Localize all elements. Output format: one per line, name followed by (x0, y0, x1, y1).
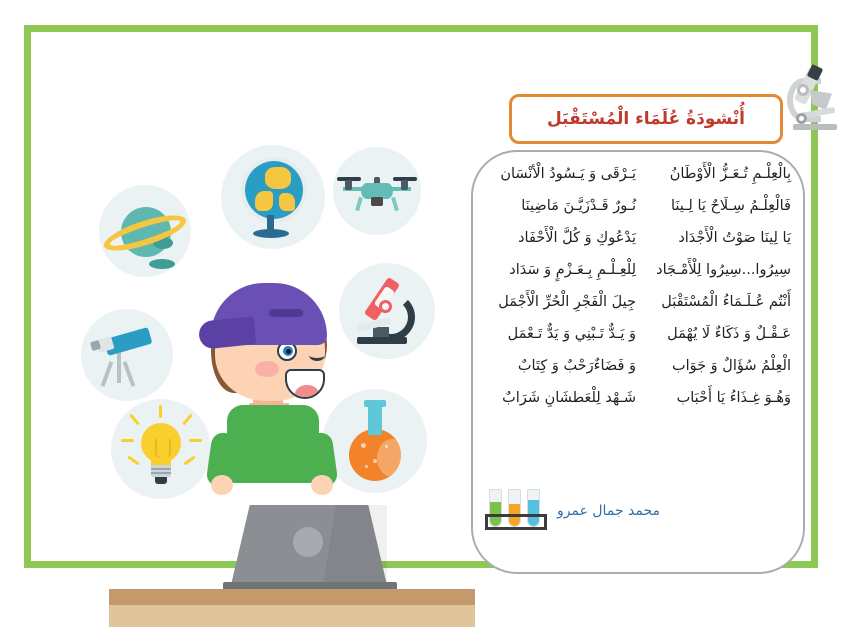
desk-surface (109, 589, 475, 605)
poem-hemistich-b: نُـورٌ قَـدْزَيَّـنَ مَاضِينَا (485, 198, 640, 214)
telescope-leg (123, 361, 136, 387)
globe-meridian-arc (232, 148, 317, 233)
telescope-leg (101, 361, 114, 387)
science-illustration (71, 127, 451, 527)
drone-motor (345, 180, 352, 190)
drone-leg (391, 197, 399, 212)
telescope-leg (117, 361, 121, 383)
flask-bubble (365, 465, 368, 468)
light-ray (159, 405, 162, 418)
microscope-base (793, 124, 837, 130)
drone-camera (371, 197, 383, 206)
poem-hemistich-b: يَـرْقَى وَ يَـسُودُ الْأنْسَان (485, 166, 640, 182)
poem-hemistich-b: جِيلَ الْفَجْرِ الْحُرِّ الْأَجْمَل (485, 294, 640, 310)
poem-hemistich-a: وَهُـوَ غِـذَاءُ يَا أَحْبَاب (640, 390, 793, 406)
boy-winking-eye (309, 349, 325, 361)
flask-bubble (361, 443, 366, 448)
flask-bubble (373, 459, 377, 463)
light-ray (121, 439, 134, 442)
boy-pupil-center (286, 349, 291, 354)
poem-line: يَا لِينَا صَوْتُ الْأَجْدَاد يَدْعُوكِ … (485, 230, 793, 262)
drone-motor (401, 180, 408, 190)
boy-blush (255, 361, 279, 377)
boy-with-laptop (181, 257, 361, 527)
poem-text-block: بِالْعِلْـمِ تُـعَـزُّ الْأَوْطَانُ يَـر… (485, 166, 793, 422)
test-tube-rack (485, 514, 547, 530)
poem-title-pill: أُنْشودَةُ عُلَمَاء الْمُسْتَقْبَل (509, 94, 783, 144)
boy-cap-brim (198, 316, 257, 350)
desk-front-panel (109, 605, 475, 627)
boy-tongue (295, 385, 319, 399)
boy-hand (311, 475, 333, 495)
bulb-filament (155, 439, 171, 459)
globe-base (253, 229, 289, 238)
page-title: أُنْشودَةُ عُلَمَاء الْمُسْتَقْبَل (547, 109, 745, 129)
flask-lip (364, 400, 386, 407)
test-tube-rack-icon (485, 487, 547, 535)
telescope-icon (81, 309, 173, 401)
poem-hemistich-a: عَـقْـلٌ وَ ذَكَاءٌ لَا يُهْمَل (640, 326, 793, 342)
light-ray (129, 414, 140, 426)
poem-line: وَهُـوَ غِـذَاءُ يَا أَحْبَاب شَـهْد لِل… (485, 390, 793, 422)
poem-hemistich-b: وَ فَضَاءٌرَحْبٌ وَ كِتَابٌ (485, 358, 640, 374)
flask-neck (368, 403, 382, 435)
poem-author-row: محمد جمال عمرو (485, 487, 793, 535)
microscope-base (357, 337, 407, 344)
saturn-planet-icon (99, 185, 191, 277)
poem-hemistich-a: يَا لِينَا صَوْتُ الْأَجْدَاد (640, 230, 793, 246)
poem-hemistich-b: يَدْعُوكِ وَ كُلَّ الْأَحْفَاد (485, 230, 640, 246)
green-border-frame: أُنْشودَةُ عُلَمَاء الْمُسْتَقْبَل بِالْ… (24, 25, 818, 568)
poem-hemistich-b: لِلْعِـلْـمِ بِـعَـزْمٍ وَ سَدَاد (485, 262, 640, 278)
boy-hand (211, 475, 233, 495)
bulb-screw (151, 465, 171, 477)
microscope-icon (779, 60, 842, 134)
poem-hemistich-a: بِالْعِلْـمِ تُـعَـزُّ الْأَوْطَانُ (640, 166, 793, 182)
globe-icon (221, 145, 325, 249)
poem-line: بِالْعِلْـمِ تُـعَـزُّ الْأَوْطَانُ يَـر… (485, 166, 793, 198)
bulb-thread (151, 472, 171, 474)
boy-cap-strap (269, 309, 303, 317)
flask-bubble (385, 445, 388, 448)
poem-author-name: محمد جمال عمرو (557, 503, 660, 519)
drone-leg (355, 197, 363, 212)
poem-hemistich-b: شَـهْد لِلْعَطشَانِ شَرَابٌ (485, 390, 640, 406)
poem-line: أَنْتُم عُـلَـمَاءُ الْمُسْتَقْبَل جِيلَ… (485, 294, 793, 326)
poem-hemistich-a: الْعِلْمُ سُؤَالٌ وَ جَوَاب (640, 358, 793, 374)
microscope-focus-knob (796, 113, 807, 124)
microscope-knob (379, 300, 392, 313)
light-ray (127, 456, 139, 466)
drone-icon (333, 147, 421, 235)
saturn-blotch (149, 259, 175, 269)
page-root: أُنْشودَةُ عُلَمَاء الْمُسْتَقْبَل بِالْ… (0, 0, 842, 595)
laptop-logo (293, 527, 323, 557)
poem-hemistich-a: أَنْتُم عُـلَـمَاءُ الْمُسْتَقْبَل (640, 294, 793, 310)
bulb-thread (151, 468, 171, 470)
poem-line: الْعِلْمُ سُؤَالٌ وَ جَوَاب وَ فَضَاءٌرَ… (485, 358, 793, 390)
poem-line: سِيرُوا...سِيرُوا لِلْأَمْـجَاد لِلْعِـل… (485, 262, 793, 294)
poem-hemistich-b: وَ يَـدٌّ تَـبْنِي وَ يَدٌّ تَـعْمَل (485, 326, 640, 342)
poem-hemistich-a: فَالْعِلْـمُ سِـلَاحٌ يَا لِـينَا (640, 198, 793, 214)
flask-highlight (377, 439, 401, 477)
poem-line: عَـقْـلٌ وَ ذَكَاءٌ لَا يُهْمَل وَ يَـدٌ… (485, 326, 793, 358)
poem-hemistich-a: سِيرُوا...سِيرُوا لِلْأَمْـجَاد (640, 262, 793, 278)
bulb-tip (155, 477, 167, 484)
microscope-knob (797, 84, 809, 96)
poem-line: فَالْعِلْـمُ سِـلَاحٌ يَا لِـينَا نُـورٌ… (485, 198, 793, 230)
